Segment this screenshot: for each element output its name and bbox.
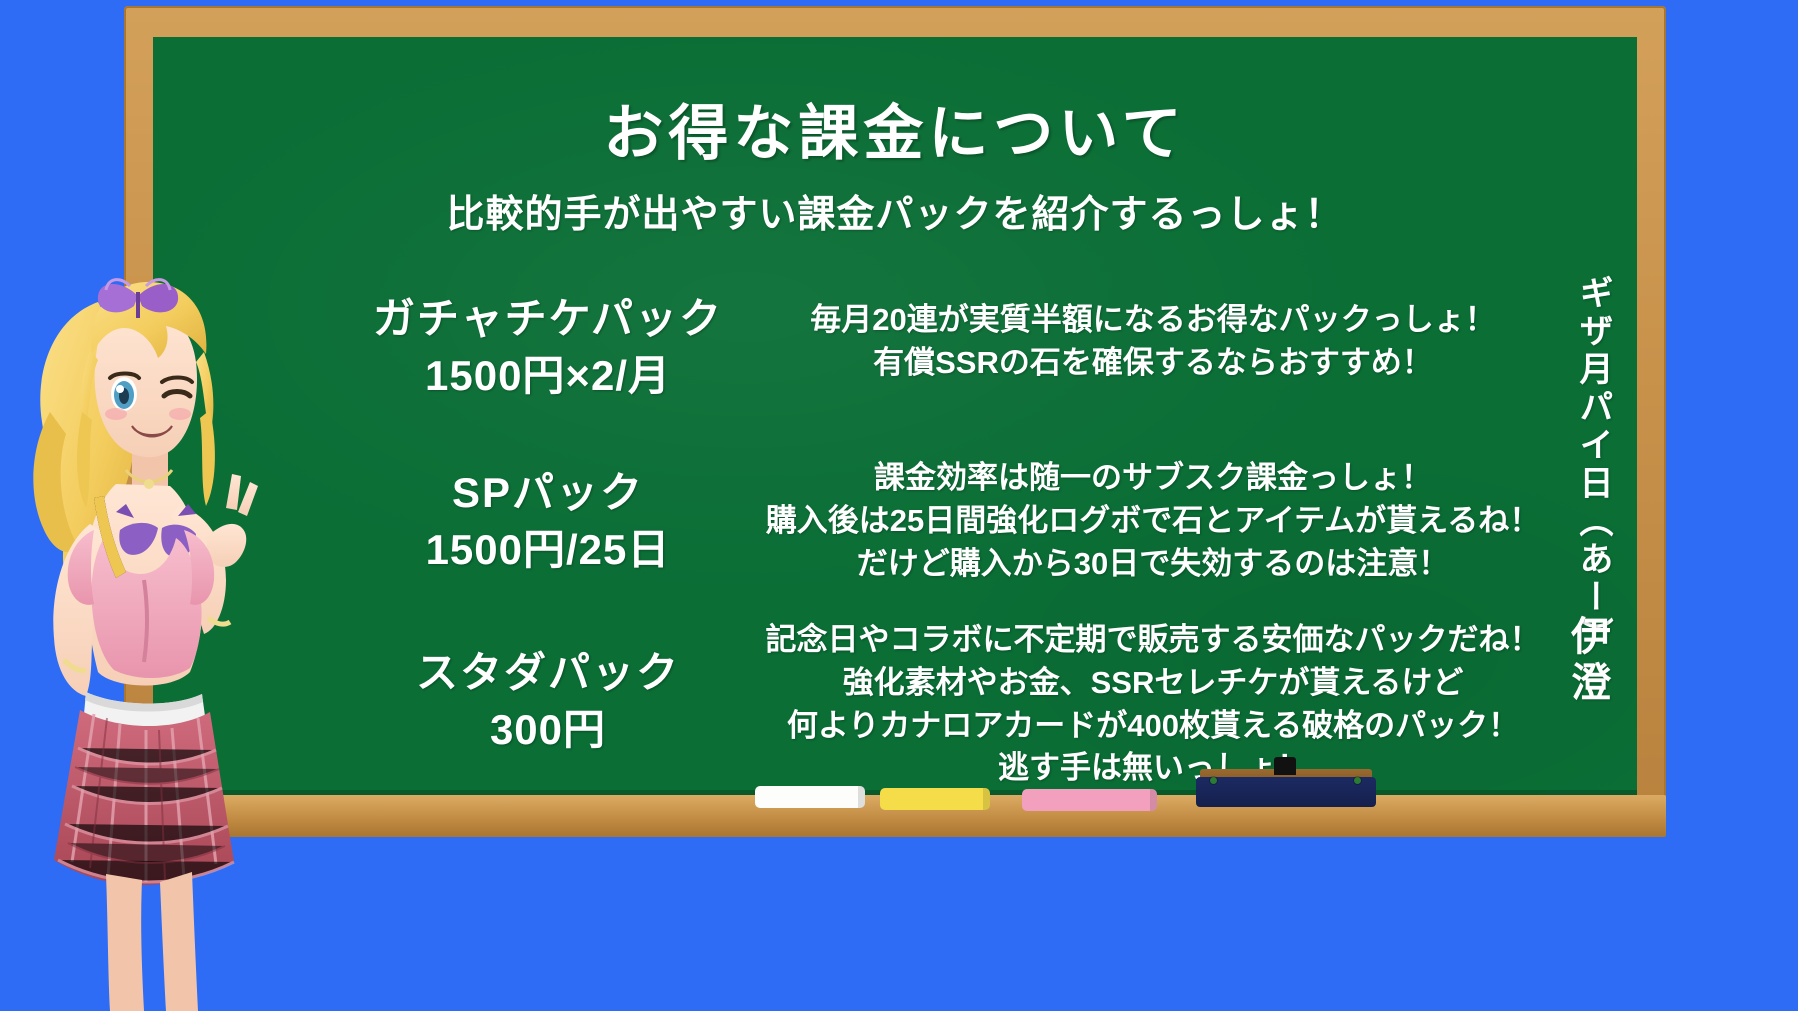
pack-description-line: 逃す手は無いっしょ！ (753, 747, 1553, 790)
pack-price: 1500円×2/月 (333, 348, 763, 405)
chalkboard-surface: お得な課金について 比較的手が出やすい課金パックを紹介するっしょ！ ガチャチケパ… (153, 37, 1637, 809)
pack-description-line: 課金効率は随一のサブスク課金っしょ！ (753, 457, 1553, 500)
pack-name: ガチャチケパック (333, 291, 763, 348)
pack-description: 毎月20連が実質半額になるお得なパックっしょ！ 有償SSRの石を確保するならおす… (753, 299, 1553, 385)
pack-description-line: 有償SSRの石を確保するならおすすめ！ (753, 342, 1553, 385)
pack-name-block: SPパック 1500円/25日 (333, 465, 763, 578)
pack-name: スタダパック (333, 645, 763, 702)
pink-chalk-icon (1022, 789, 1157, 811)
page-subtitle: 比較的手が出やすい課金パックを紹介するっしょ！ (153, 183, 1637, 238)
pack-description: 記念日やコラボに不定期で販売する安価なパックだね！ 強化素材やお金、SSRセレチ… (753, 619, 1553, 790)
pack-name-block: ガチャチケパック 1500円×2/月 (333, 291, 763, 404)
pack-description-line: 購入後は25日間強化ログボで石とアイテムが貰えるね！ (753, 500, 1553, 543)
artist-signature: 伊澄 (1545, 615, 1611, 707)
pack-price: 300円 (333, 702, 763, 759)
pack-description-line: 何よりカナロアカードが400枚貰える破格のパック！ (753, 705, 1553, 748)
eraser-body (1196, 777, 1376, 807)
poster-root: お得な課金について 比較的手が出やすい課金パックを紹介するっしょ！ ガチャチケパ… (0, 0, 1798, 1011)
eraser-handle (1274, 757, 1296, 775)
pack-name: SPパック (333, 465, 763, 522)
yellow-chalk-icon (880, 788, 990, 810)
pack-description: 課金効率は随一のサブスク課金っしょ！ 購入後は25日間強化ログボで石とアイテムが… (753, 457, 1553, 585)
eraser-dot (1354, 777, 1361, 784)
page-title: お得な課金について (153, 85, 1637, 172)
pack-description-line: 毎月20連が実質半額になるお得なパックっしょ！ (753, 299, 1553, 342)
vertical-credit-note: ギザ月パイ日（あー） (1543, 275, 1613, 655)
pack-name-block: スタダパック 300円 (333, 645, 763, 758)
white-chalk-icon (755, 786, 865, 808)
pack-description-line: 記念日やコラボに不定期で販売する安価なパックだね！ (753, 619, 1553, 662)
pack-description-line: だけど購入から30日で失効するのは注意！ (753, 543, 1553, 586)
pack-price: 1500円/25日 (333, 522, 763, 579)
eraser-dot (1210, 777, 1217, 784)
pack-description-line: 強化素材やお金、SSRセレチケが貰えるけど (753, 662, 1553, 705)
blackboard-eraser-icon (1196, 757, 1376, 807)
